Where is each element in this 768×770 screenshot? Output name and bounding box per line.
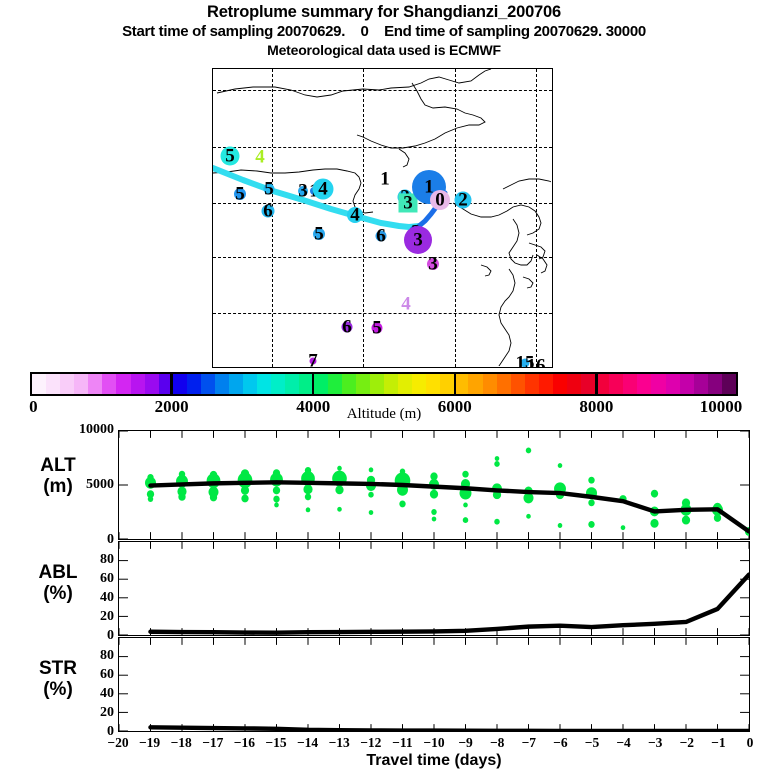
alt-ytick-labels: 0500010000 — [62, 430, 114, 540]
colorbar-segment — [314, 374, 328, 394]
colorbar-gradient — [30, 372, 738, 396]
map-day-label: 3 — [428, 255, 438, 274]
x-tick-label: −9 — [458, 735, 472, 751]
colorbar-segment — [74, 374, 88, 394]
colorbar-segment — [609, 374, 623, 394]
colorbar-segment — [131, 374, 145, 394]
x-tick-label: −7 — [522, 735, 536, 751]
page-title: Retroplume summary for Shangdianzi_20070… — [0, 2, 768, 22]
colorbar-segment — [88, 374, 102, 394]
colorbar-segment — [468, 374, 482, 394]
colorbar-separator — [312, 372, 314, 396]
colorbar-segment — [271, 374, 285, 394]
colorbar-segment — [257, 374, 271, 394]
str-ytick-labels: 020406080 — [62, 637, 114, 732]
colorbar-segment — [694, 374, 708, 394]
alt-plot-svg — [119, 431, 749, 539]
colorbar-segment — [426, 374, 440, 394]
y-tick-label: 80 — [100, 648, 114, 664]
colorbar-segment — [440, 374, 454, 394]
colorbar-segment — [525, 374, 539, 394]
y-tick-label: 40 — [100, 590, 114, 606]
x-tick-label: −13 — [329, 735, 350, 751]
x-tick-label: −18 — [171, 735, 192, 751]
colorbar-segment — [370, 374, 384, 394]
map-day-label: 6 — [376, 227, 386, 246]
x-tick-label: −20 — [107, 735, 128, 751]
sampling-time-line: Start time of sampling 20070629. 0 End t… — [0, 22, 768, 41]
header-block: Retroplume summary for Shangdianzi_20070… — [0, 2, 768, 59]
y-tick-label: 40 — [100, 686, 114, 702]
colorbar-segment — [722, 374, 736, 394]
y-tick-label: 10000 — [79, 422, 114, 438]
x-tick-label: −16 — [234, 735, 255, 751]
map-day-label: 6 — [342, 318, 352, 337]
str-plot-svg — [119, 638, 749, 731]
y-tick-label: 20 — [100, 705, 114, 721]
map-day-label: 4 — [401, 295, 411, 314]
colorbar-separator — [454, 372, 456, 396]
colorbar-segment — [187, 374, 201, 394]
travel-time-tick-labels: −20−19−18−17−16−15−14−13−12−11−10−9−8−7−… — [118, 735, 750, 753]
colorbar-segment — [412, 374, 426, 394]
colorbar-segment — [497, 374, 511, 394]
map-day-label: 3 — [403, 194, 413, 213]
colorbar-segment — [215, 374, 229, 394]
colorbar-segment — [384, 374, 398, 394]
colorbar-title: Altitude (m) — [0, 406, 768, 423]
colorbar-segment — [666, 374, 680, 394]
colorbar-segment — [102, 374, 116, 394]
colorbar-segment — [328, 374, 342, 394]
colorbar-separator — [170, 372, 172, 396]
x-tick-label: −14 — [297, 735, 318, 751]
abl-ytick-labels: 020406080 — [62, 541, 114, 636]
map-day-label: 5 — [314, 225, 324, 244]
colorbar-segment — [680, 374, 694, 394]
colorbar-segment — [201, 374, 215, 394]
colorbar-segment — [454, 374, 468, 394]
x-tick-label: −4 — [616, 735, 630, 751]
map-day-label: 3 — [298, 182, 308, 201]
xaxis-title: Travel time (days) — [118, 752, 750, 770]
x-tick-label: 0 — [747, 735, 754, 751]
colorbar-segment — [398, 374, 412, 394]
colorbar-segment — [553, 374, 567, 394]
colorbar-segment — [116, 374, 130, 394]
x-tick-label: −19 — [139, 735, 160, 751]
map-day-label: 5 — [235, 185, 245, 204]
map-day-label: 4 — [318, 180, 328, 199]
colorbar-segment — [356, 374, 370, 394]
x-tick-label: −8 — [490, 735, 504, 751]
x-tick-label: −6 — [553, 735, 567, 751]
y-tick-label: 80 — [100, 552, 114, 568]
colorbar-segment — [173, 374, 187, 394]
map-day-label: 16 — [527, 357, 546, 368]
map-day-label: 4 — [350, 206, 360, 225]
y-tick-label: 60 — [100, 667, 114, 683]
x-tick-label: −12 — [360, 735, 381, 751]
map-day-label: 4 — [255, 148, 265, 167]
colorbar-segment — [708, 374, 722, 394]
map-inner: 5455631414562310233346571516 — [213, 69, 552, 367]
x-tick-label: −10 — [423, 735, 444, 751]
str-plot-panel — [118, 637, 750, 732]
map-day-label: 5 — [225, 147, 235, 166]
colorbar-segment — [32, 374, 46, 394]
colorbar-segment — [581, 374, 595, 394]
x-tick-label: −17 — [202, 735, 223, 751]
altitude-colorbar: 0200040006000800010000 — [30, 372, 738, 396]
map-day-label: 7 — [308, 352, 318, 368]
x-tick-label: −1 — [711, 735, 725, 751]
colorbar-segment — [145, 374, 159, 394]
x-tick-label: −5 — [585, 735, 599, 751]
alt-plot-panel — [118, 430, 750, 540]
colorbar-segment — [651, 374, 665, 394]
colorbar-segment — [60, 374, 74, 394]
map-day-label: 6 — [263, 202, 273, 221]
y-tick-label: 60 — [100, 571, 114, 587]
abl-plot-svg — [119, 542, 749, 635]
colorbar-separator — [595, 372, 597, 396]
colorbar-segment — [285, 374, 299, 394]
x-tick-label: −3 — [648, 735, 662, 751]
map-day-label: 3 — [413, 231, 423, 250]
map-day-label: 1 — [380, 170, 390, 189]
colorbar-segment — [342, 374, 356, 394]
retroplume-map: 5455631414562310233346571516 — [212, 68, 553, 368]
colorbar-segment — [483, 374, 497, 394]
map-day-label: 5 — [372, 319, 382, 338]
colorbar-segment — [511, 374, 525, 394]
x-tick-label: −11 — [392, 735, 412, 751]
colorbar-segment — [243, 374, 257, 394]
colorbar-segment — [623, 374, 637, 394]
map-day-label: 0 — [435, 191, 445, 210]
colorbar-segment — [539, 374, 553, 394]
map-day-label: 2 — [458, 191, 468, 210]
y-tick-label: 5000 — [86, 477, 114, 493]
abl-plot-panel — [118, 541, 750, 636]
colorbar-segment — [46, 374, 60, 394]
x-tick-label: −15 — [265, 735, 286, 751]
met-data-line: Meteorological data used is ECMWF — [0, 41, 768, 59]
colorbar-segment — [229, 374, 243, 394]
y-tick-label: 20 — [100, 609, 114, 625]
colorbar-segment — [567, 374, 581, 394]
colorbar-segment — [637, 374, 651, 394]
map-day-label: 5 — [264, 180, 274, 199]
x-tick-label: −2 — [680, 735, 694, 751]
